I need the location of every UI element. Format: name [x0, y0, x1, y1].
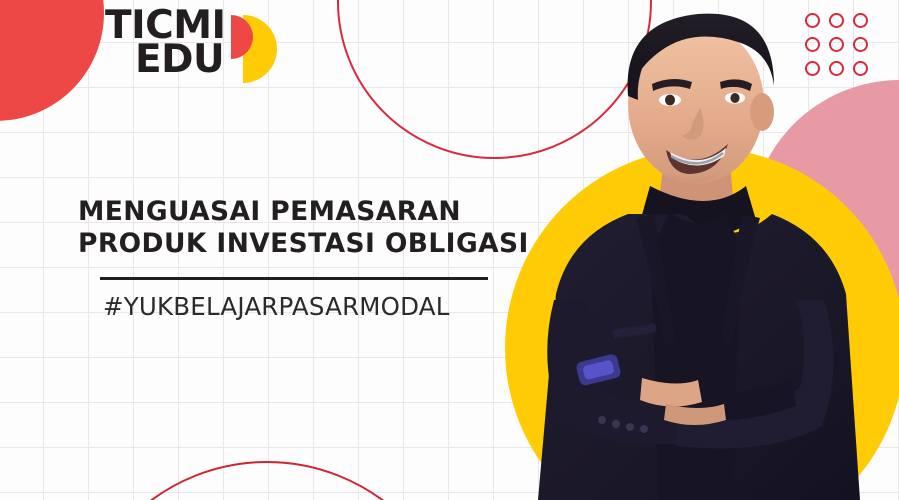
logo-line-2-row: EDU: [105, 43, 226, 77]
logo-text-edu: EDU: [135, 43, 224, 77]
headline-divider: [100, 277, 488, 280]
headline-line-1: MENGUASAI PEMASARAN: [78, 196, 548, 228]
presenter-photo: [524, 0, 884, 500]
headline-line-2: PRODUK INVESTASI OBLIGASI: [78, 228, 548, 260]
campaign-hashtag: #YUKBELAJARPASARMODAL: [103, 292, 548, 321]
ticmi-half-circle-mark-icon: [243, 15, 277, 83]
headline-block: MENGUASAI PEMASARAN PRODUK INVESTASI OBL…: [78, 196, 548, 321]
ticmi-edu-logo: TICMI EDU: [105, 9, 226, 78]
promo-banner: TICMI EDU MENGUASAI PEMASARAN PRODUK INV…: [0, 0, 899, 500]
